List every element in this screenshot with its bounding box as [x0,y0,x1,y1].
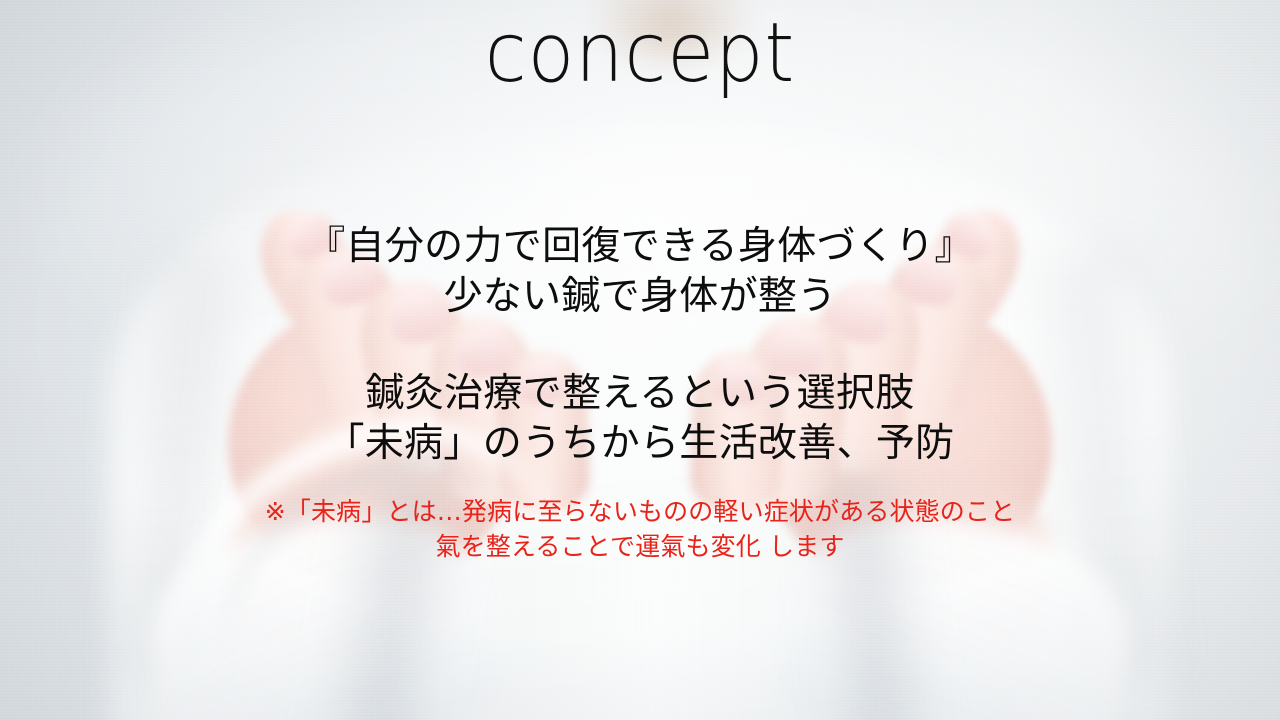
body-line-2: 少ない鍼で身体が整う [0,272,1280,322]
body-line-4: 「未病」のうちから生活改善、予防 [0,419,1280,469]
body-line-1: 『自分の力で回復できる身体づくり』 [0,222,1280,272]
body-line-3: 鍼灸治療で整えるという選択肢 [0,369,1280,419]
note-line-2: 氣を整えることで運氣も変化 します [0,529,1280,564]
note-line-1: ※「未病」とは…発病に至らないものの軽い症状がある状態のこと [0,494,1280,529]
page-title: concept [45,6,1235,103]
concept-body: 『自分の力で回復できる身体づくり』 少ない鍼で身体が整う 鍼灸治療で整えるという… [0,222,1280,469]
concept-slide: concept 『自分の力で回復できる身体づくり』 少ない鍼で身体が整う 鍼灸治… [0,0,1280,720]
concept-note: ※「未病」とは…発病に至らないものの軽い症状がある状態のこと 氣を整えることで運… [0,494,1280,564]
body-line-spacer [0,322,1280,369]
slide-text-layer: concept 『自分の力で回復できる身体づくり』 少ない鍼で身体が整う 鍼灸治… [0,0,1280,720]
